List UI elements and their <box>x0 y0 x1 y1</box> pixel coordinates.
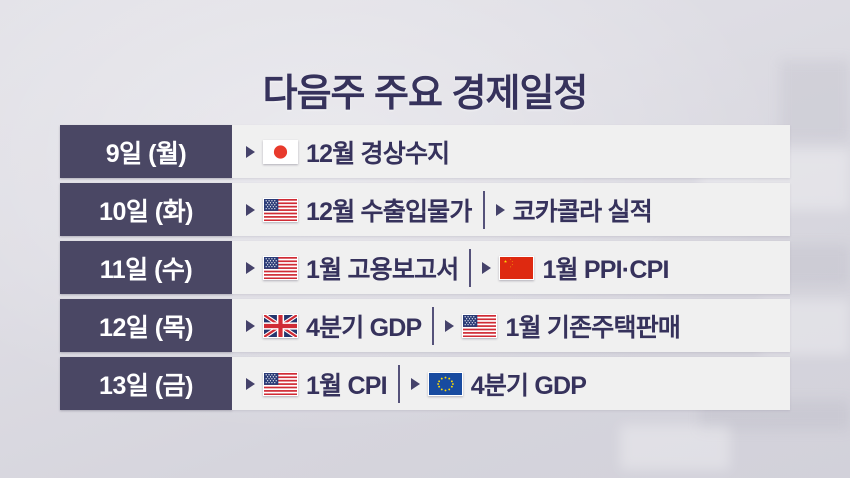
us-flag <box>263 256 298 280</box>
event-item: 1월 고용보고서 <box>246 250 458 286</box>
date-cell: 10일 (화) <box>60 183 232 236</box>
event-item: 4분기 GDP <box>246 308 421 344</box>
bullet-arrow-icon <box>445 320 454 332</box>
date-cell: 12일 (목) <box>60 299 232 352</box>
event-label: 4분기 GDP <box>471 366 586 402</box>
bullet-arrow-icon <box>411 378 420 390</box>
schedule-row: 13일 (금)1월 CPI4분기 GDP <box>60 357 790 410</box>
event-item: 12월 경상수지 <box>246 134 449 170</box>
event-label: 1월 PPI·CPI <box>542 250 668 286</box>
event-label: 4분기 GDP <box>306 308 421 344</box>
schedule-row: 10일 (화)12월 수출입물가코카콜라 실적 <box>60 183 790 236</box>
event-divider <box>432 307 434 345</box>
events-cell: 4분기 GDP1월 기존주택판매 <box>232 299 790 352</box>
date-cell: 9일 (월) <box>60 125 232 178</box>
jp-flag <box>263 140 298 164</box>
us-flag <box>263 198 298 222</box>
event-label: 1월 CPI <box>306 366 387 402</box>
economic-schedule-table: 9일 (월)12월 경상수지10일 (화)12월 수출입물가코카콜라 실적11일… <box>60 125 790 415</box>
date-cell: 11일 (수) <box>60 241 232 294</box>
events-cell: 1월 CPI4분기 GDP <box>232 357 790 410</box>
bullet-arrow-icon <box>246 146 255 158</box>
event-divider <box>469 249 471 287</box>
events-cell: 1월 고용보고서1월 PPI·CPI <box>232 241 790 294</box>
events-cell: 12월 경상수지 <box>232 125 790 178</box>
us-flag <box>462 314 497 338</box>
cn-flag <box>499 256 534 280</box>
event-item: 4분기 GDP <box>411 366 586 402</box>
gb-flag <box>263 314 298 338</box>
bullet-arrow-icon <box>246 204 255 216</box>
eu-flag <box>428 372 463 396</box>
bullet-arrow-icon <box>482 262 491 274</box>
schedule-row: 9일 (월)12월 경상수지 <box>60 125 790 178</box>
event-label: 12월 수출입물가 <box>306 192 472 228</box>
schedule-row: 11일 (수)1월 고용보고서1월 PPI·CPI <box>60 241 790 294</box>
bullet-arrow-icon <box>496 204 505 216</box>
event-divider <box>483 191 485 229</box>
event-item: 12월 수출입물가 <box>246 192 472 228</box>
event-label: 12월 경상수지 <box>306 134 449 170</box>
event-item: 1월 PPI·CPI <box>482 250 668 286</box>
date-cell: 13일 (금) <box>60 357 232 410</box>
bullet-arrow-icon <box>246 378 255 390</box>
page-title: 다음주 주요 경제일정 <box>0 62 850 117</box>
us-flag <box>263 372 298 396</box>
schedule-row: 12일 (목)4분기 GDP1월 기존주택판매 <box>60 299 790 352</box>
event-label: 1월 고용보고서 <box>306 250 458 286</box>
event-label: 1월 기존주택판매 <box>505 308 680 344</box>
event-item: 코카콜라 실적 <box>496 192 652 228</box>
bullet-arrow-icon <box>246 262 255 274</box>
bullet-arrow-icon <box>246 320 255 332</box>
event-item: 1월 기존주택판매 <box>445 308 680 344</box>
events-cell: 12월 수출입물가코카콜라 실적 <box>232 183 790 236</box>
event-label: 코카콜라 실적 <box>513 192 652 228</box>
event-divider <box>398 365 400 403</box>
event-item: 1월 CPI <box>246 366 387 402</box>
